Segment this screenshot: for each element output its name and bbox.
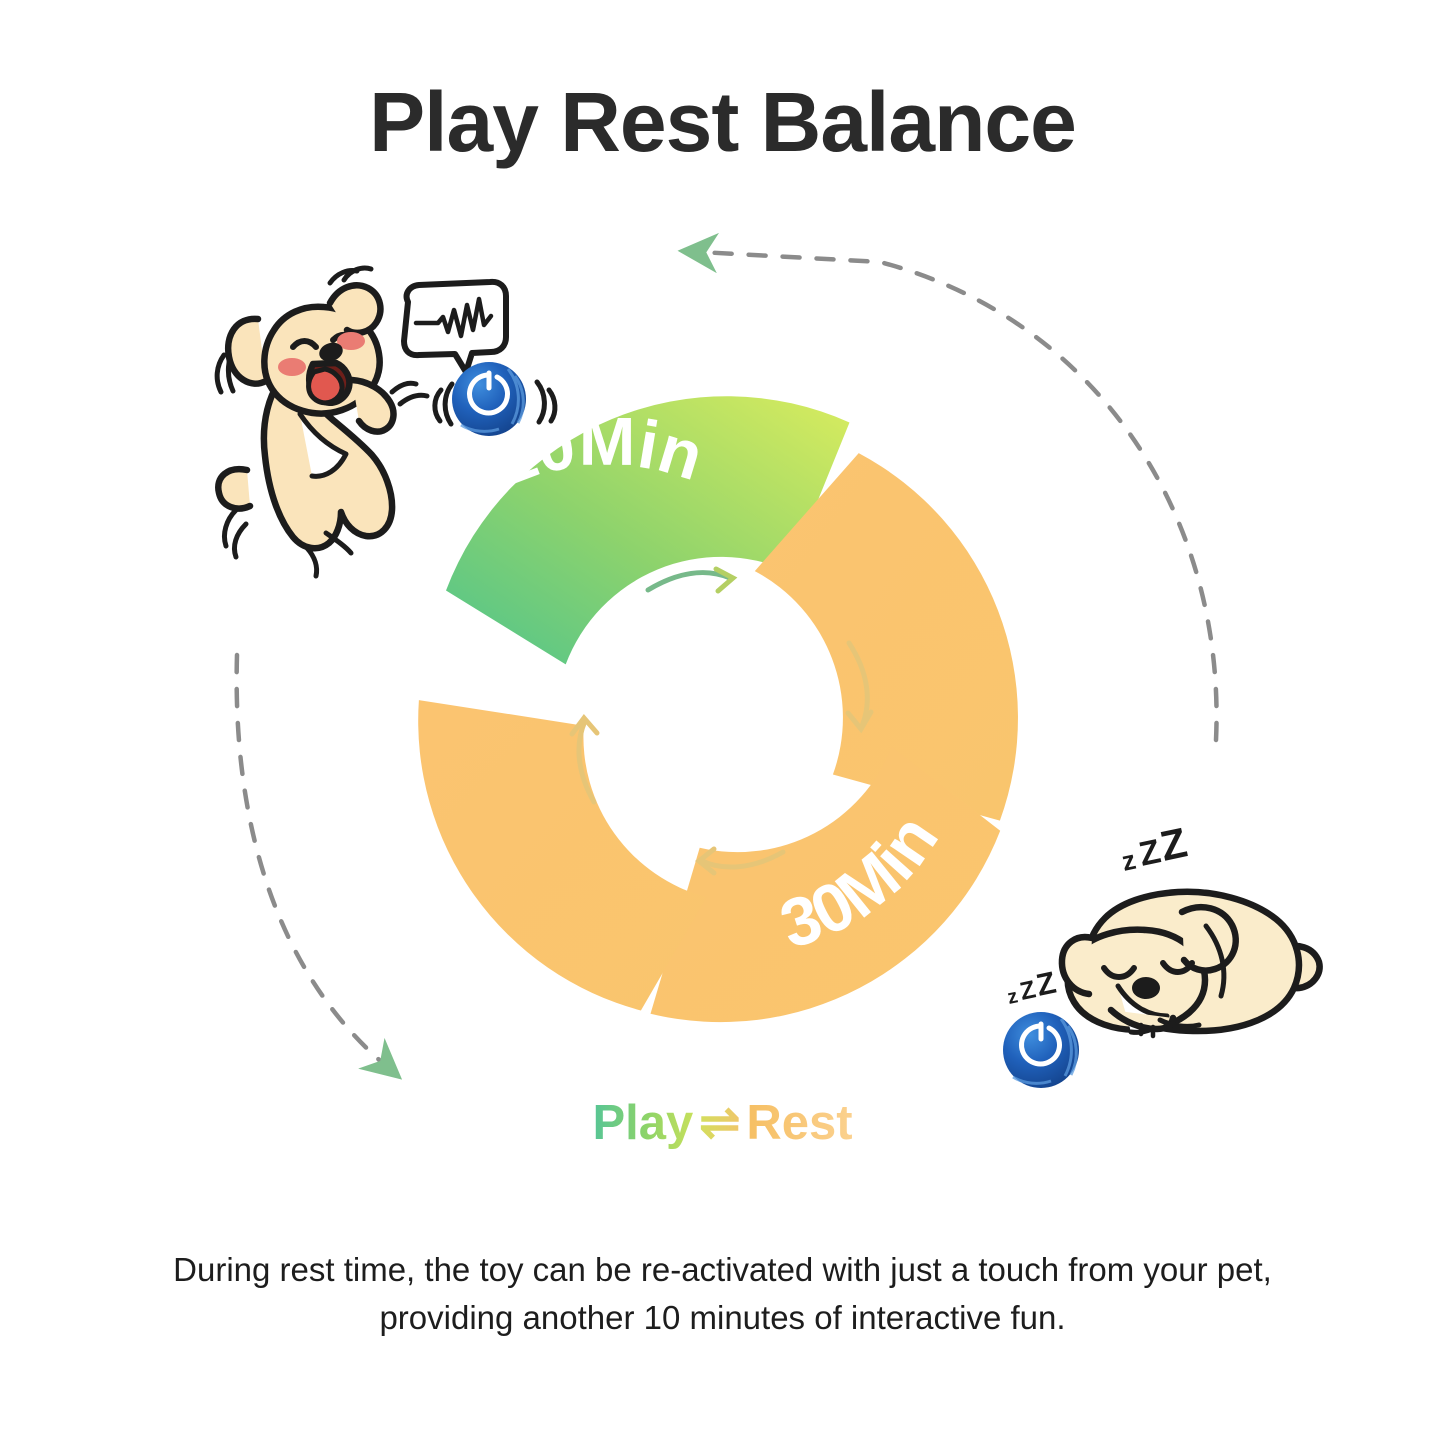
- donut-label-10min: 10Min: [484, 404, 711, 501]
- flow-arrows-layer: [0, 0, 1445, 1445]
- inner-flow-arrows: [572, 569, 871, 873]
- svg-text:Z: Z: [1017, 975, 1038, 1006]
- svg-text:z: z: [1005, 985, 1019, 1009]
- puppy-mouth: [309, 363, 349, 403]
- ecg-waveform: [416, 299, 491, 336]
- exchange-icon: ⇌: [693, 1096, 746, 1150]
- puppy-head: [264, 307, 379, 414]
- puppy-eyes: [293, 335, 355, 347]
- sleeping-nose: [1132, 977, 1160, 999]
- footer-play-label: Play: [592, 1096, 693, 1150]
- donut-slice-30min-b[interactable]: [651, 747, 1001, 1022]
- sleeping-muzzle: [1118, 986, 1167, 1032]
- rest-to-play-arc: [700, 252, 1217, 740]
- svg-text:Z: Z: [1156, 818, 1191, 869]
- play-rest-footer: Play⇌Rest: [0, 1094, 1445, 1151]
- puppy-cheek-left: [278, 358, 306, 376]
- donut-chart: 10Min 30Min: [0, 0, 1445, 1445]
- sleeping-paw-front: [1111, 1010, 1173, 1029]
- page-title: Play Rest Balance: [0, 78, 1445, 166]
- puppy-ear-right: [330, 285, 380, 333]
- ball-sphere[interactable]: [452, 362, 526, 436]
- sleeping-ear-right: [1182, 907, 1236, 970]
- svg-text:Z: Z: [1033, 965, 1059, 1003]
- puppy-nose: [317, 340, 345, 365]
- ball-sphere-idle[interactable]: [1003, 1012, 1079, 1088]
- infographic-canvas: Play Rest Balance: [0, 0, 1445, 1445]
- puppy-front-paw: [352, 380, 393, 432]
- power-ring-icon: [470, 375, 508, 413]
- ecg-speech-bubble: [404, 282, 506, 372]
- donut-slice-10min[interactable]: [446, 396, 850, 664]
- svg-text:Z: Z: [1136, 832, 1164, 873]
- play-to-rest-arc: [237, 655, 385, 1065]
- sleeping-eyes: [1104, 963, 1192, 977]
- puppy-cheek-right: [337, 332, 365, 350]
- smart-ball-idle: z Z Z: [0, 0, 1445, 1445]
- sleeping-body: [1088, 892, 1299, 1031]
- ball-ribs-idle: [1013, 1019, 1076, 1083]
- puppy-tail: [218, 469, 250, 508]
- motion-lines: [217, 268, 427, 576]
- sleeping-head: [1068, 930, 1205, 1030]
- donut-label-30min: 30Min: [771, 801, 952, 963]
- sleeping-ear-left: [1062, 937, 1092, 994]
- donut-slice-30min-a[interactable]: [755, 453, 1018, 820]
- sleeping-tail: [1276, 946, 1320, 988]
- ball-motion-lines: [435, 382, 555, 424]
- puppy-tongue: [309, 369, 343, 403]
- svg-text:z: z: [1119, 845, 1138, 877]
- puppy-body: [264, 374, 392, 548]
- power-ring-icon-idle: [1022, 1026, 1060, 1064]
- excited-puppy-illustration: [0, 0, 1445, 1445]
- caption-text: During rest time, the toy can be re-acti…: [120, 1246, 1325, 1342]
- puppy-chest: [300, 414, 346, 476]
- footer-rest-label: Rest: [746, 1096, 852, 1150]
- puppy-ear-left: [228, 319, 266, 384]
- ball-ribs: [461, 369, 523, 431]
- smart-ball-active: [0, 0, 1445, 1445]
- donut-slice-30min-c[interactable]: [418, 700, 706, 1010]
- sleep-zzz-ball: z Z Z: [1005, 965, 1059, 1009]
- sleep-zzz-dog: z Z Z: [1119, 818, 1191, 876]
- sleeping-puppy-illustration: z Z Z: [0, 0, 1445, 1445]
